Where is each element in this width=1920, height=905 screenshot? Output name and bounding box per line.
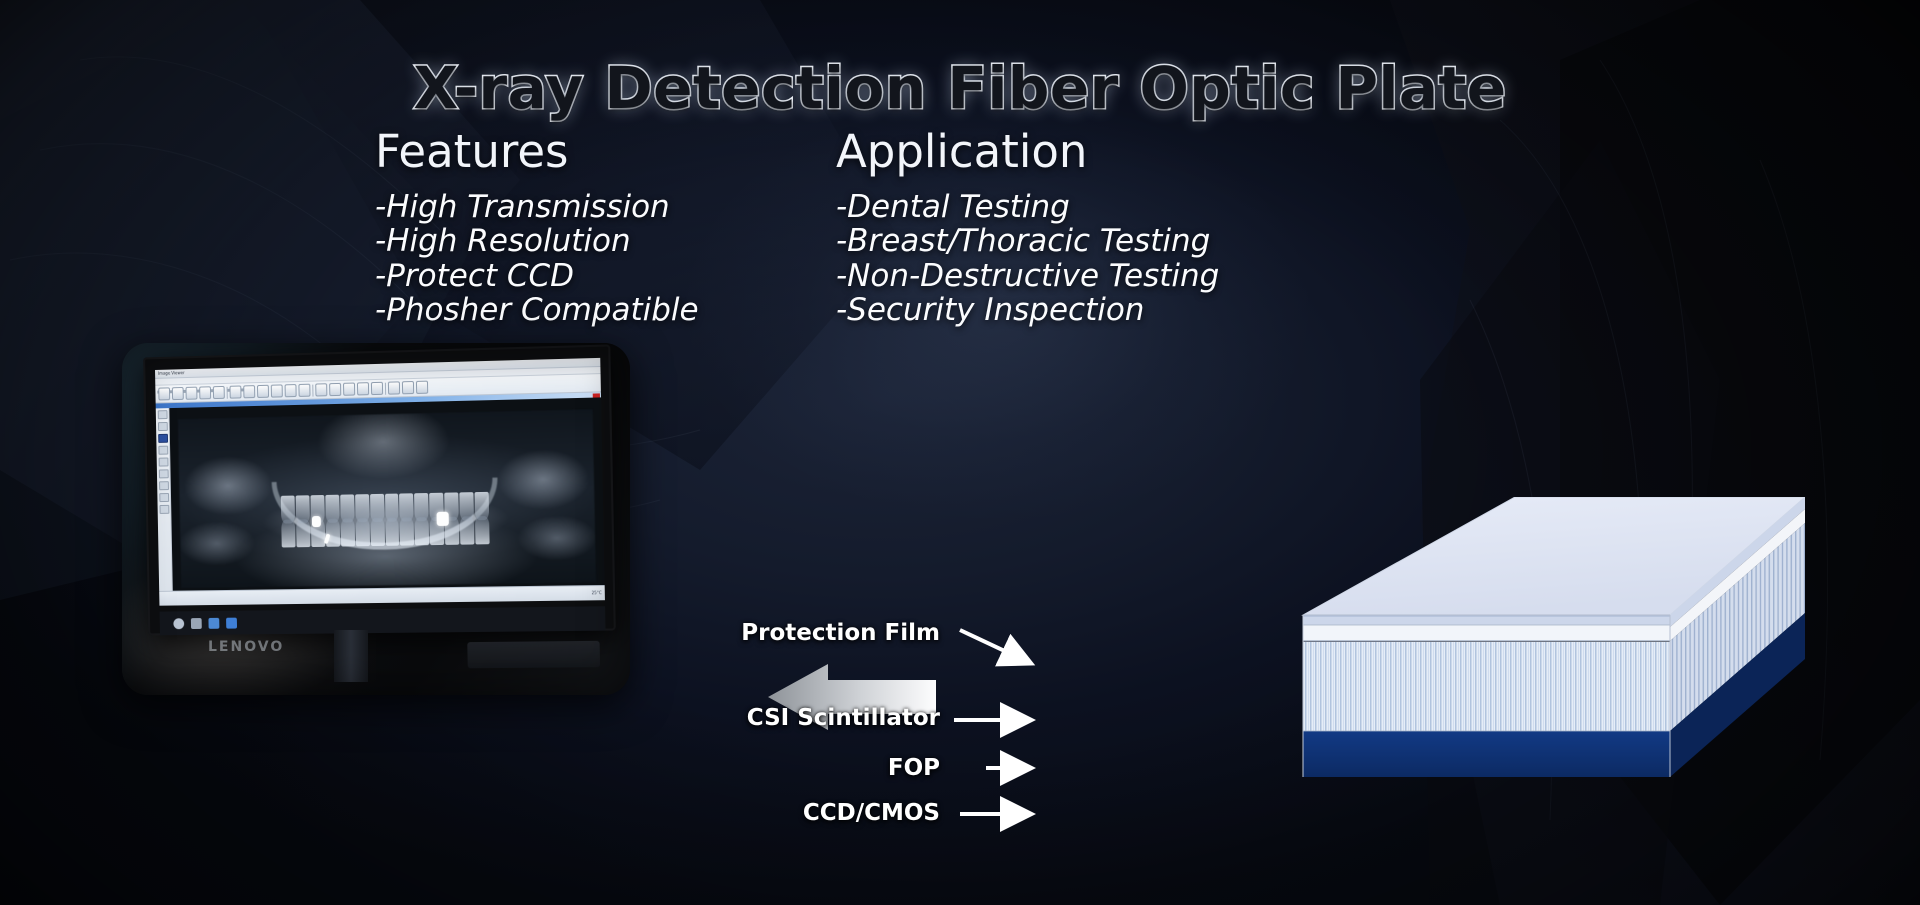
rail-icon[interactable]	[158, 446, 168, 455]
label-fop: FOP	[640, 755, 940, 781]
rail-icon[interactable]	[158, 469, 168, 478]
features-heading: Features	[375, 128, 699, 175]
os-taskbar	[160, 606, 606, 635]
taskbar-icon[interactable]	[226, 617, 237, 628]
rail-icon[interactable]	[159, 505, 169, 514]
list-item: -High Resolution	[375, 225, 699, 258]
monitor-stand	[334, 630, 368, 682]
rail-icon[interactable]	[158, 434, 168, 443]
xray-monitor-photo: Image Viewer	[122, 343, 630, 695]
rail-icon[interactable]	[157, 410, 167, 419]
taskbar-icon[interactable]	[208, 617, 219, 628]
monitor-screen: Image Viewer	[155, 358, 605, 606]
panoramic-xray-image	[169, 397, 604, 591]
list-item: -Non-Destructive Testing	[836, 260, 1219, 293]
toolbar-icon[interactable]	[285, 384, 297, 397]
label-protection-film: Protection Film	[640, 620, 940, 646]
toolbar-icon[interactable]	[371, 382, 383, 395]
toolbar-separator	[227, 386, 228, 398]
toolbar-icon[interactable]	[158, 387, 170, 400]
rail-icon[interactable]	[159, 481, 169, 490]
toolbar-icon[interactable]	[388, 381, 400, 394]
list-item: -Protect CCD	[375, 260, 699, 293]
dental-filling	[311, 516, 320, 527]
leader-arrows	[940, 600, 1260, 840]
start-icon[interactable]	[173, 618, 184, 629]
toolbar-icon[interactable]	[186, 387, 198, 400]
toolbar-icon[interactable]	[298, 384, 310, 397]
taskbar-icon[interactable]	[191, 618, 202, 629]
toolbar-icon[interactable]	[402, 381, 414, 394]
label-ccd-cmos: CCD/CMOS	[640, 800, 940, 826]
viewer-area	[156, 397, 605, 591]
toolbar-separator	[312, 384, 313, 396]
list-item: -Breast/Thoracic Testing	[836, 225, 1219, 258]
toolbar-icon[interactable]	[213, 386, 225, 399]
list-item: -Dental Testing	[836, 191, 1219, 224]
fop-plate-3d	[1245, 497, 1805, 847]
rail-icon[interactable]	[158, 458, 168, 467]
monitor-bezel: Image Viewer	[143, 344, 616, 635]
slide-canvas: X-ray Detection Fiber Optic Plate Featur…	[0, 0, 1920, 905]
toolbar-icon[interactable]	[243, 385, 255, 398]
features-column: Features -High Transmission -High Resolu…	[375, 128, 699, 328]
features-list: -High Transmission -High Resolution -Pro…	[375, 191, 699, 327]
page-title: X-ray Detection Fiber Optic Plate	[0, 54, 1920, 122]
plate-front-csi	[1303, 625, 1670, 641]
toolbar-icon[interactable]	[357, 382, 369, 395]
label-csi-scintillator: CSI Scintillator	[640, 705, 940, 731]
leader-protection-film	[960, 630, 1028, 662]
toolbar-icon[interactable]	[343, 383, 355, 396]
toolbar-icon[interactable]	[416, 381, 428, 394]
toolbar-icon[interactable]	[172, 387, 184, 400]
monitor-control-buttons[interactable]	[467, 641, 600, 668]
toolbar-separator	[385, 382, 386, 394]
toolbar-icon[interactable]	[229, 385, 241, 398]
toolbar-icon[interactable]	[271, 384, 283, 397]
application-heading: Application	[836, 128, 1219, 175]
toolbar-icon[interactable]	[315, 383, 327, 396]
application-list: -Dental Testing -Breast/Thoracic Testing…	[836, 191, 1219, 327]
list-item: -Phosher Compatible	[375, 294, 699, 327]
toolbar-icon[interactable]	[329, 383, 341, 396]
dental-filling	[436, 511, 448, 525]
toolbar-icon[interactable]	[257, 385, 269, 398]
list-item: -High Transmission	[375, 191, 699, 224]
toolbar-icon[interactable]	[199, 386, 211, 399]
list-item: -Security Inspection	[836, 294, 1219, 327]
rail-icon[interactable]	[159, 493, 169, 502]
rail-icon[interactable]	[157, 422, 167, 431]
monitor-brand-label: LENOVO	[208, 639, 284, 655]
application-column: Application -Dental Testing -Breast/Thor…	[836, 128, 1219, 328]
plate-front-ccd	[1303, 731, 1670, 777]
